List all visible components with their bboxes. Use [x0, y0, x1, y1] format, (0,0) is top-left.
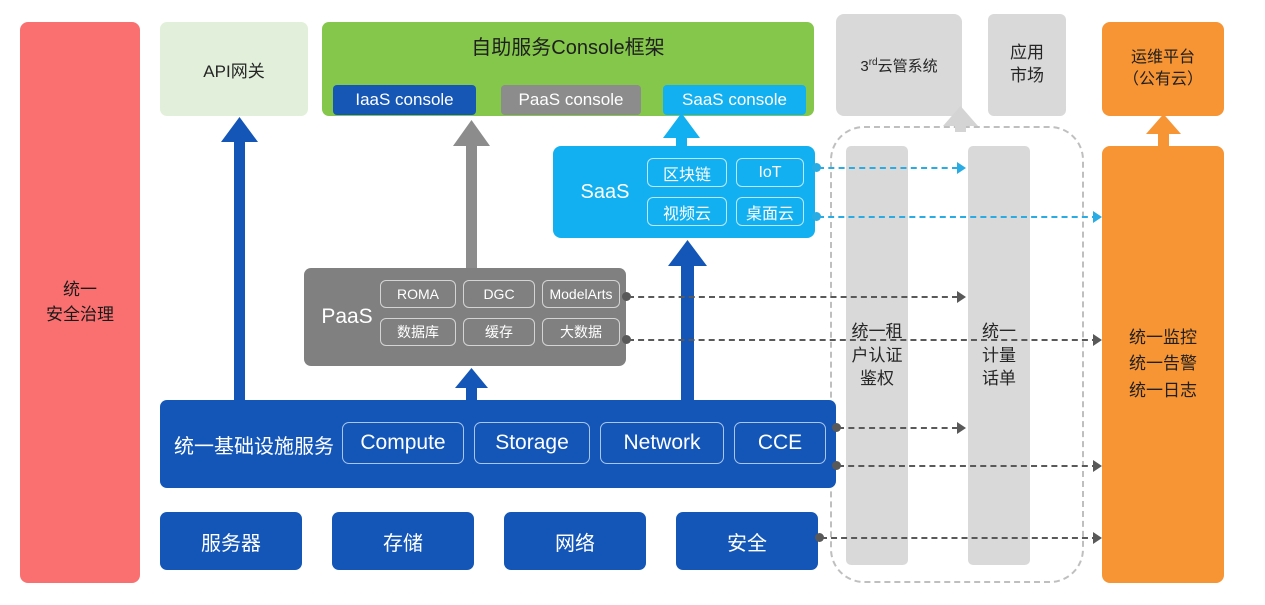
infra-item-compute[interactable]: Compute	[342, 422, 464, 464]
arrow-infra-to-api-gateway	[221, 117, 258, 400]
saas-item-video-cloud[interactable]: 视频云	[647, 197, 727, 226]
arrow-infra-to-paas	[455, 368, 488, 402]
arrow-saas-to-console	[663, 113, 700, 148]
third-party-suffix: 云管系统	[878, 58, 938, 75]
third-party-cloud-management-box: 3rd云管系统	[836, 14, 962, 116]
saas-item-iot[interactable]: IoT	[736, 158, 804, 187]
resource-box-storage[interactable]: 存储	[332, 512, 474, 570]
infra-item-storage[interactable]: Storage	[474, 422, 590, 464]
third-party-cloud-management-label: 3rd云管系统	[860, 55, 937, 76]
connector-paas-to-ops	[628, 339, 1098, 341]
ops-platform-public-cloud-box: 运维平台 （公有云）	[1102, 22, 1224, 116]
connector-arrowhead-saas-auth	[957, 162, 966, 174]
unified-security-governance-panel: 统一 安全治理	[20, 22, 140, 583]
resource-box-security[interactable]: 安全	[676, 512, 818, 570]
connector-arrowhead-infra-ops	[1093, 460, 1102, 472]
infra-item-cce[interactable]: CCE	[734, 422, 826, 464]
arrow-paas-to-console	[453, 120, 490, 268]
paas-item-bigdata[interactable]: 大数据	[542, 318, 620, 346]
app-market-label: 应用 市场	[1010, 42, 1044, 88]
paas-console-chip[interactable]: PaaS console	[501, 85, 641, 115]
paas-block: PaaS ROMA DGC ModelArts 数据库 缓存 大数据	[304, 268, 626, 366]
console-framework-title: 自助服务Console框架	[322, 31, 814, 60]
paas-item-roma[interactable]: ROMA	[380, 280, 456, 308]
saas-console-chip[interactable]: SaaS console	[663, 85, 806, 115]
unified-tenant-auth-label: 统一租 户认证 鉴权	[852, 320, 903, 390]
connector-arrowhead-saas-ops	[1093, 211, 1102, 223]
app-market-box: 应用 市场	[988, 14, 1066, 116]
saas-block: SaaS 区块链 IoT 视频云 桌面云	[553, 146, 815, 238]
unified-infrastructure-label: 统一基础设施服务	[174, 400, 334, 488]
paas-item-database[interactable]: 数据库	[380, 318, 456, 346]
resource-label-security: 安全	[727, 527, 767, 556]
third-party-prefix: 3	[860, 58, 868, 75]
connector-arrowhead-infra-auth	[957, 422, 966, 434]
ops-monitoring-label: 统一监控 统一告警 统一日志	[1129, 325, 1197, 404]
connector-infra-to-auth	[838, 427, 958, 429]
connector-arrowhead-paas-auth	[957, 291, 966, 303]
arrow-infra-to-saas	[668, 240, 707, 402]
connector-resources-to-ops	[821, 537, 1098, 539]
console-framework-box: 自助服务Console框架 IaaS console PaaS console …	[322, 22, 814, 116]
infra-item-network[interactable]: Network	[600, 422, 724, 464]
ops-monitoring-panel: 统一监控 统一告警 统一日志	[1102, 146, 1224, 583]
saas-item-blockchain[interactable]: 区块链	[647, 158, 727, 187]
third-party-superscript: rd	[869, 57, 878, 68]
resource-label-server: 服务器	[201, 527, 261, 556]
arrow-ops-panel-to-ops-platform	[1146, 114, 1181, 146]
architecture-diagram: 统一 安全治理 API网关 自助服务Console框架 IaaS console…	[0, 0, 1265, 605]
unified-metering-label: 统一 计量 话单	[982, 320, 1016, 390]
paas-item-dgc[interactable]: DGC	[463, 280, 535, 308]
resource-box-network[interactable]: 网络	[504, 512, 646, 570]
paas-block-label: PaaS	[310, 268, 384, 366]
unified-metering-column: 统一 计量 话单	[968, 146, 1030, 565]
connector-infra-to-ops	[838, 465, 1098, 467]
ops-platform-label: 运维平台 （公有云）	[1123, 47, 1203, 92]
connector-arrowhead-paas-ops	[1093, 334, 1102, 346]
connector-paas-to-auth	[628, 296, 958, 298]
connector-saas-to-auth	[818, 167, 958, 169]
saas-block-label: SaaS	[565, 146, 645, 238]
paas-item-modelarts[interactable]: ModelArts	[542, 280, 620, 308]
unified-infrastructure-bar: 统一基础设施服务 Compute Storage Network CCE	[160, 400, 836, 488]
saas-item-desktop-cloud[interactable]: 桌面云	[736, 197, 804, 226]
resource-label-network: 网络	[555, 527, 595, 556]
iaas-console-chip[interactable]: IaaS console	[333, 85, 476, 115]
resource-label-storage: 存储	[383, 527, 423, 556]
connector-arrowhead-resources-ops	[1093, 532, 1102, 544]
api-gateway-label: API网关	[203, 57, 264, 82]
api-gateway-box: API网关	[160, 22, 308, 116]
unified-security-governance-label: 统一 安全治理	[46, 278, 114, 327]
resource-box-server[interactable]: 服务器	[160, 512, 302, 570]
unified-tenant-auth-column: 统一租 户认证 鉴权	[846, 146, 908, 565]
connector-saas-to-ops	[818, 216, 1098, 218]
paas-item-cache[interactable]: 缓存	[463, 318, 535, 346]
